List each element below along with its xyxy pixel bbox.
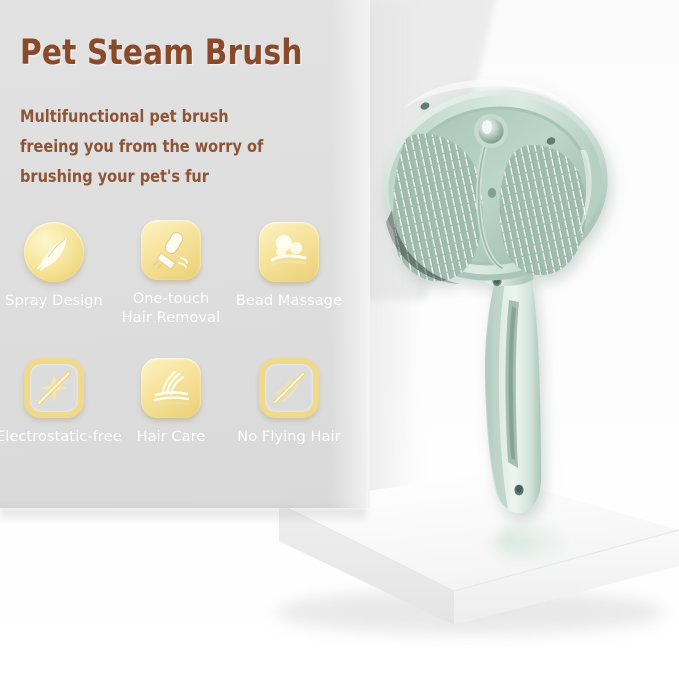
no-static-spark-icon — [24, 358, 84, 418]
feature-label: No Flying Hair — [231, 428, 347, 447]
spray-nozzle-icon — [24, 222, 84, 282]
feature-label: Bead Massage — [231, 292, 347, 311]
product-image: Pet Steam Brush Multifunctional pet brus… — [0, 0, 679, 679]
feature-spray-design: Spray Design — [0, 222, 112, 311]
subtitle-line-1: Multifunctional pet brush — [20, 102, 305, 132]
subtitle-line-2: freeing you from the worry of — [20, 132, 305, 162]
feature-label: Hair Care — [113, 428, 229, 447]
no-flying-hair-icon — [259, 358, 319, 418]
subtitle-line-3: brushing your pet's fur — [20, 162, 305, 192]
feature-label: Electrostatic-free — [0, 428, 112, 447]
feature-hair-care: Hair Care — [113, 358, 229, 447]
feature-label: Spray Design — [0, 292, 112, 311]
feature-one-touch-hair-removal: One-touch Hair Removal — [113, 220, 229, 328]
feature-row-2: Electrostatic-free Hair Care — [0, 362, 366, 482]
feature-label: One-touch Hair Removal — [113, 290, 229, 328]
feature-grid: Spray Design One-touch Hair Removal — [0, 222, 366, 482]
feature-bead-massage: Bead Massage — [231, 222, 347, 311]
subtitle: Multifunctional pet brush freeing you fr… — [20, 102, 305, 192]
page-title: Pet Steam Brush — [20, 33, 303, 73]
massage-beads-icon — [259, 222, 319, 282]
brush-icon — [141, 220, 201, 280]
feature-row-1: Spray Design One-touch Hair Removal — [0, 222, 366, 362]
steam-hair-icon — [141, 358, 201, 418]
feature-electrostatic-free: Electrostatic-free — [0, 358, 112, 447]
feature-no-flying-hair: No Flying Hair — [231, 358, 347, 447]
